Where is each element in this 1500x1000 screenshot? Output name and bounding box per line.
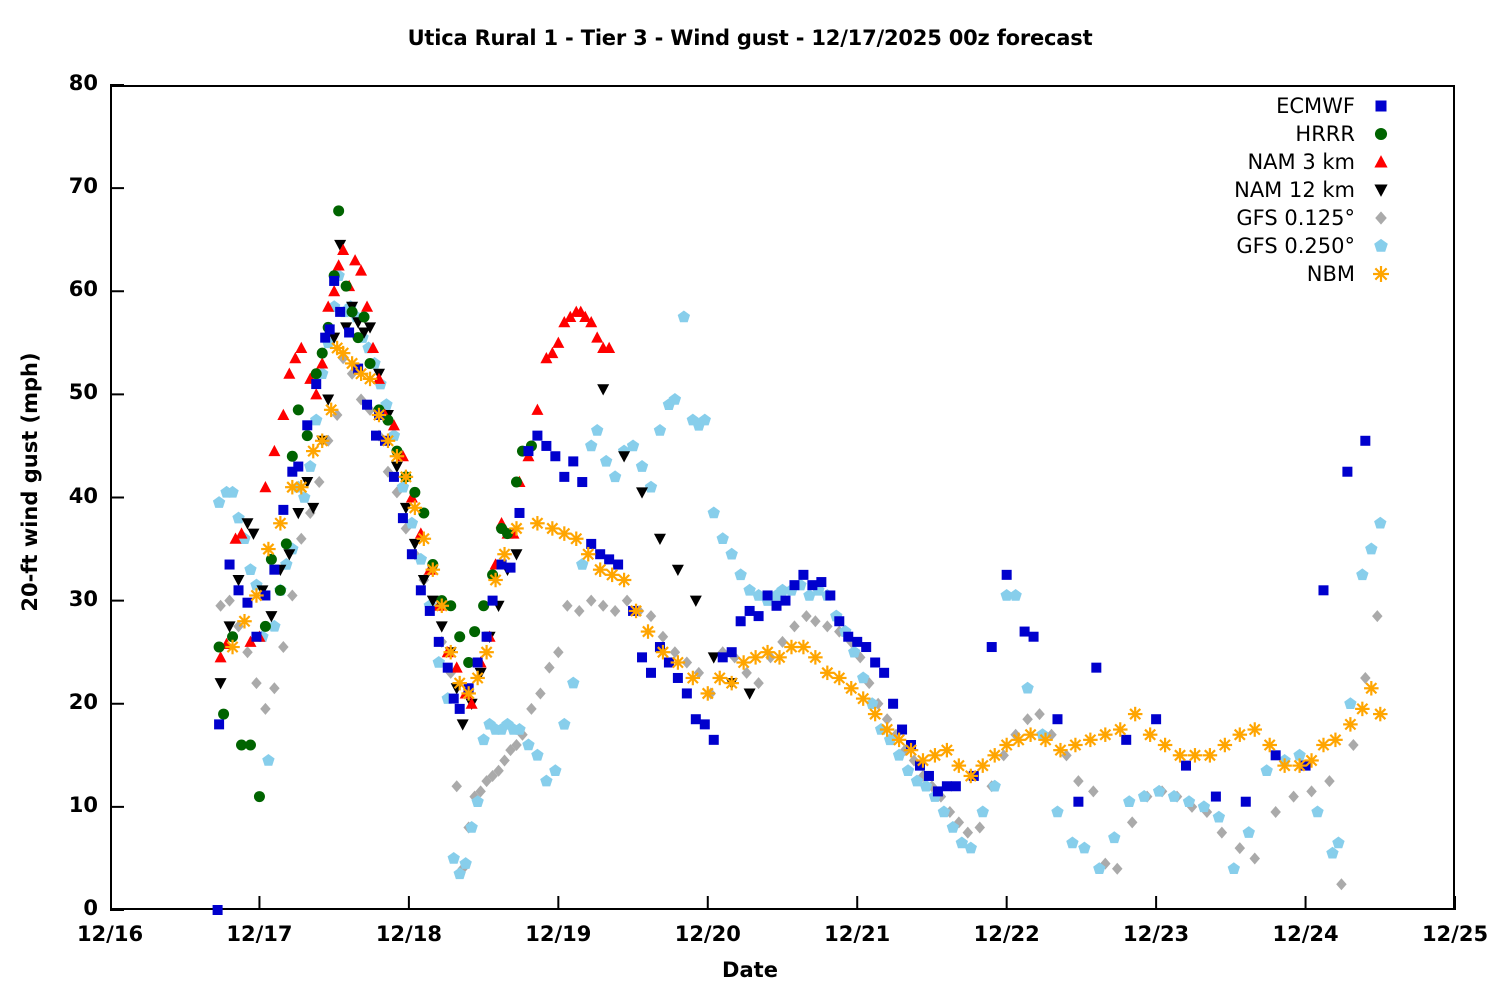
data-point	[531, 404, 543, 415]
data-point	[1020, 627, 1030, 637]
data-point	[940, 743, 955, 758]
data-point	[409, 539, 421, 550]
data-point	[242, 598, 252, 608]
data-point	[745, 606, 755, 616]
data-point	[1348, 739, 1359, 751]
data-point	[532, 431, 542, 441]
data-point	[708, 506, 720, 518]
data-point	[359, 312, 370, 323]
y-axis-tick-label: 10	[28, 793, 98, 817]
data-point	[362, 400, 372, 410]
data-point	[902, 764, 914, 776]
data-point	[335, 307, 345, 317]
data-point	[1373, 707, 1388, 722]
data-point	[810, 615, 821, 627]
data-point	[975, 822, 986, 834]
data-point	[283, 368, 295, 379]
data-points-group	[213, 205, 1388, 915]
data-point	[1372, 610, 1383, 622]
chart-page: Utica Rural 1 - Tier 3 - Wind gust - 12/…	[0, 0, 1500, 1000]
data-point	[1228, 862, 1240, 874]
data-point	[550, 451, 560, 461]
data-point	[718, 652, 728, 662]
data-point	[469, 626, 480, 637]
data-point	[880, 722, 895, 737]
data-point	[598, 600, 609, 612]
data-point	[622, 595, 633, 607]
legend-item-gfs-0-125[interactable]: GFS 0.125°	[1180, 204, 1395, 232]
data-point	[1098, 727, 1113, 742]
data-point	[857, 671, 869, 683]
data-point	[244, 563, 256, 575]
data-point	[1247, 722, 1262, 737]
data-point	[577, 477, 587, 487]
data-point	[502, 528, 513, 539]
data-point	[1113, 722, 1128, 737]
data-point	[506, 563, 516, 573]
y-axis-tick-label: 20	[28, 690, 98, 714]
data-point	[669, 393, 681, 405]
data-point	[1051, 806, 1063, 818]
data-point	[311, 368, 322, 379]
data-point	[888, 699, 898, 709]
data-point	[245, 740, 256, 751]
data-point	[617, 573, 632, 588]
data-point	[1088, 785, 1099, 797]
data-point	[1233, 727, 1248, 742]
x-axis-title: Date	[0, 958, 1500, 982]
data-point	[552, 337, 564, 348]
data-point	[1183, 795, 1195, 807]
data-point	[658, 631, 669, 643]
data-point	[772, 650, 787, 665]
data-point	[214, 719, 224, 729]
x-axis-tick-label: 12/19	[498, 922, 618, 946]
data-point	[523, 446, 533, 456]
data-point	[269, 682, 280, 694]
data-point	[987, 748, 1002, 763]
data-point	[656, 645, 671, 660]
x-axis-tick-label: 12/25	[1395, 922, 1500, 946]
data-point	[645, 481, 657, 493]
data-point	[269, 565, 279, 575]
data-point	[1143, 727, 1158, 742]
data-point	[832, 671, 847, 686]
data-point	[213, 905, 223, 915]
data-point	[268, 445, 280, 456]
data-point	[717, 532, 729, 544]
legend-item-label: GFS 0.250°	[1236, 232, 1355, 260]
data-point	[237, 614, 252, 629]
data-point	[215, 678, 227, 689]
legend-item-nam-12-km[interactable]: NAM 12 km	[1180, 176, 1395, 204]
data-point	[214, 642, 225, 653]
data-point	[562, 600, 573, 612]
data-point	[302, 430, 313, 441]
data-point	[531, 749, 543, 761]
data-point	[449, 694, 459, 704]
data-point	[856, 691, 871, 706]
data-point	[341, 281, 352, 292]
data-point	[260, 621, 271, 632]
data-point	[673, 673, 683, 683]
data-point	[754, 611, 764, 621]
data-point	[870, 658, 880, 668]
data-point	[426, 562, 441, 577]
legend-item-label: HRRR	[1295, 120, 1355, 148]
data-point	[879, 668, 889, 678]
data-point	[1241, 797, 1251, 807]
data-point	[848, 646, 860, 658]
data-point	[448, 852, 460, 864]
data-point	[780, 596, 790, 606]
data-point	[646, 610, 657, 622]
data-point	[1173, 748, 1188, 763]
data-point	[646, 668, 656, 678]
y-axis-tick-label: 70	[28, 174, 98, 198]
blue-square-marker-icon	[1367, 92, 1395, 120]
data-point	[1271, 750, 1281, 760]
data-point	[389, 472, 399, 482]
data-point	[416, 585, 426, 595]
y-axis-title: 20-ft wind gust (mph)	[18, 282, 42, 682]
data-point	[329, 276, 339, 286]
data-point	[822, 620, 833, 632]
data-point	[1073, 775, 1084, 787]
data-point	[488, 573, 503, 588]
data-point	[311, 379, 321, 389]
data-point	[789, 580, 799, 590]
green-circle-marker-icon	[1367, 120, 1395, 148]
data-point	[1288, 791, 1299, 803]
data-point	[798, 570, 808, 580]
legend-item-gfs-0-250[interactable]: GFS 0.250°	[1180, 232, 1395, 260]
data-point	[1249, 852, 1260, 864]
data-point	[1306, 785, 1317, 797]
data-point	[281, 538, 292, 549]
data-point	[618, 451, 630, 462]
data-point	[924, 771, 934, 781]
data-point	[736, 616, 746, 626]
y-axis-tick-label: 0	[28, 896, 98, 920]
data-point	[807, 580, 817, 590]
data-point	[541, 441, 551, 451]
data-point	[637, 652, 647, 662]
data-point	[324, 403, 339, 418]
data-point	[417, 532, 432, 547]
data-point	[1052, 714, 1062, 724]
x-axis-tick-label: 12/18	[349, 922, 469, 946]
data-point	[701, 686, 716, 701]
legend-item-label: NAM 12 km	[1234, 176, 1355, 204]
data-point	[1213, 811, 1225, 823]
data-point	[1022, 713, 1033, 725]
data-point	[1128, 707, 1143, 722]
data-point	[1203, 748, 1218, 763]
data-point	[372, 408, 387, 423]
series-nam-3-km	[215, 244, 616, 709]
data-point	[242, 646, 253, 658]
data-point	[478, 600, 489, 611]
data-point	[636, 487, 648, 498]
data-point	[511, 477, 522, 488]
x-axis-tick-label: 12/20	[648, 922, 768, 946]
data-point	[349, 254, 361, 265]
data-point	[1344, 697, 1356, 709]
data-point	[636, 460, 648, 472]
data-point	[293, 462, 303, 472]
data-point	[559, 472, 569, 482]
data-point	[1002, 570, 1012, 580]
data-point	[455, 704, 465, 714]
x-axis-tick-label: 12/17	[199, 922, 319, 946]
data-point	[294, 480, 309, 495]
data-point	[672, 565, 684, 576]
data-point	[1328, 733, 1343, 748]
data-point	[251, 632, 261, 642]
data-point	[1123, 795, 1135, 807]
data-point	[852, 637, 862, 647]
data-point	[558, 718, 570, 730]
data-point	[629, 604, 644, 619]
data-point	[1218, 738, 1233, 753]
data-point	[454, 631, 465, 642]
data-point	[690, 596, 702, 607]
data-point	[482, 632, 492, 642]
data-point	[443, 645, 458, 660]
data-point	[610, 605, 621, 617]
data-point	[1304, 753, 1319, 768]
data-point	[763, 590, 773, 600]
data-point	[1261, 764, 1273, 776]
data-point	[1021, 682, 1033, 694]
data-point	[514, 508, 524, 518]
data-point	[569, 532, 584, 547]
data-point	[585, 439, 597, 451]
data-point	[1121, 735, 1131, 745]
data-point	[989, 780, 1001, 792]
data-point	[1336, 878, 1347, 890]
data-point	[1365, 543, 1377, 555]
data-point	[399, 470, 414, 485]
data-point	[530, 516, 545, 531]
data-point	[461, 686, 476, 701]
data-point	[316, 357, 328, 368]
data-point	[641, 624, 656, 639]
data-point	[215, 651, 227, 662]
data-point	[302, 420, 312, 430]
data-point	[581, 547, 596, 562]
data-point	[215, 600, 226, 612]
data-point	[1068, 738, 1083, 753]
data-point	[734, 568, 746, 580]
data-point	[390, 449, 405, 464]
data-point	[278, 505, 288, 515]
data-point	[834, 616, 844, 626]
legend-item-ecmwf[interactable]: ECMWF	[1180, 92, 1395, 120]
data-point	[678, 311, 690, 323]
data-point	[682, 688, 692, 698]
legend-item-label: GFS 0.125°	[1236, 204, 1355, 232]
data-point	[234, 585, 244, 595]
data-point	[654, 534, 666, 545]
data-point	[289, 352, 301, 363]
data-point	[1073, 797, 1083, 807]
data-point	[283, 549, 295, 560]
data-point	[609, 470, 621, 482]
data-point	[296, 533, 307, 545]
data-point	[381, 434, 396, 449]
data-point	[567, 677, 579, 689]
data-point	[1023, 727, 1038, 742]
data-point	[473, 658, 483, 668]
data-point	[544, 662, 555, 674]
data-point	[1112, 863, 1123, 875]
data-point	[691, 714, 701, 724]
data-point	[275, 585, 286, 596]
data-point	[287, 451, 298, 462]
legend-item-label: NAM 3 km	[1247, 148, 1355, 176]
data-point	[976, 758, 991, 773]
data-point	[1211, 792, 1221, 802]
data-point	[259, 481, 271, 492]
data-point	[964, 769, 979, 784]
data-point	[1364, 681, 1379, 696]
data-point	[942, 781, 952, 791]
data-point	[686, 671, 701, 686]
data-point	[261, 542, 276, 557]
data-point	[477, 733, 489, 745]
data-point	[1374, 517, 1386, 529]
data-point	[600, 455, 612, 467]
data-point	[553, 646, 564, 658]
data-point	[1342, 467, 1352, 477]
lightblue-pentagon-marker-icon	[1367, 232, 1395, 260]
legend-item-nam-3-km[interactable]: NAM 3 km	[1180, 148, 1395, 176]
data-point	[328, 285, 340, 296]
data-point	[353, 332, 364, 343]
data-point	[963, 827, 974, 839]
data-point	[470, 671, 485, 686]
data-point	[904, 743, 919, 758]
data-point	[522, 739, 534, 751]
data-point	[724, 676, 739, 691]
data-point	[1168, 790, 1180, 802]
legend-item-hrrr[interactable]: HRRR	[1180, 120, 1395, 148]
data-point	[844, 681, 859, 696]
data-point	[310, 388, 322, 399]
data-point	[1153, 785, 1165, 797]
data-point	[574, 605, 585, 617]
data-point	[293, 404, 304, 415]
data-point	[398, 513, 408, 523]
data-point	[540, 775, 552, 787]
data-point	[952, 758, 967, 773]
data-point	[225, 640, 240, 655]
data-point	[434, 637, 444, 647]
data-point	[1029, 632, 1039, 642]
data-point	[700, 719, 710, 729]
data-point	[287, 589, 298, 601]
data-point	[1181, 761, 1191, 771]
data-point	[347, 306, 358, 317]
data-point	[435, 599, 450, 614]
data-point	[726, 548, 738, 560]
data-point	[277, 409, 289, 420]
data-point	[1127, 816, 1138, 828]
data-point	[977, 806, 989, 818]
data-point	[262, 754, 274, 766]
data-point	[595, 549, 605, 559]
data-point	[371, 431, 381, 441]
data-point	[796, 640, 811, 655]
data-point	[224, 621, 236, 632]
legend-item-nbm[interactable]: NBM	[1180, 260, 1395, 288]
gray-diamond-marker-icon	[1367, 204, 1395, 232]
data-point	[273, 516, 288, 531]
data-point	[304, 460, 316, 472]
x-axis-tick-label: 12/24	[1246, 922, 1366, 946]
data-point	[509, 521, 524, 536]
data-point	[408, 501, 423, 516]
data-point	[1318, 585, 1328, 595]
legend-item-label: ECMWF	[1276, 92, 1355, 120]
data-point	[1066, 836, 1078, 848]
data-point	[1158, 738, 1173, 753]
red-triangle-up-marker-icon	[1367, 148, 1395, 176]
data-point	[772, 601, 782, 611]
data-point	[1326, 847, 1338, 859]
data-point	[361, 300, 373, 311]
black-triangle-down-marker-icon	[1367, 176, 1395, 204]
data-point	[1332, 836, 1344, 848]
data-point	[292, 508, 304, 519]
data-point	[278, 641, 289, 653]
orange-asterisk-marker-icon	[1367, 260, 1395, 288]
data-point	[1360, 672, 1371, 684]
data-point	[1343, 717, 1358, 732]
x-axis-tick-label: 12/22	[947, 922, 1067, 946]
data-point	[604, 554, 614, 564]
data-point	[265, 611, 277, 622]
data-point	[232, 512, 244, 524]
data-point	[654, 424, 666, 436]
data-point	[1262, 738, 1277, 753]
data-point	[241, 518, 253, 529]
data-point	[671, 655, 686, 670]
data-point	[382, 415, 393, 426]
data-point	[295, 342, 307, 353]
data-point	[1277, 758, 1292, 773]
data-point	[861, 642, 871, 652]
data-point	[418, 507, 429, 518]
data-point	[436, 621, 448, 632]
data-point	[355, 264, 367, 275]
data-point	[808, 650, 823, 665]
data-point	[315, 434, 330, 449]
data-point	[591, 424, 603, 436]
data-point	[451, 780, 462, 792]
data-point	[314, 476, 325, 488]
data-point	[1053, 743, 1068, 758]
data-point	[1078, 842, 1090, 854]
data-point	[868, 707, 883, 722]
series-hrrr	[214, 205, 537, 802]
data-point	[213, 496, 225, 508]
data-point	[233, 575, 245, 586]
data-point	[1360, 436, 1370, 446]
chart-legend: ECMWFHRRRNAM 3 kmNAM 12 kmGFS 0.125°GFS …	[1180, 92, 1395, 288]
